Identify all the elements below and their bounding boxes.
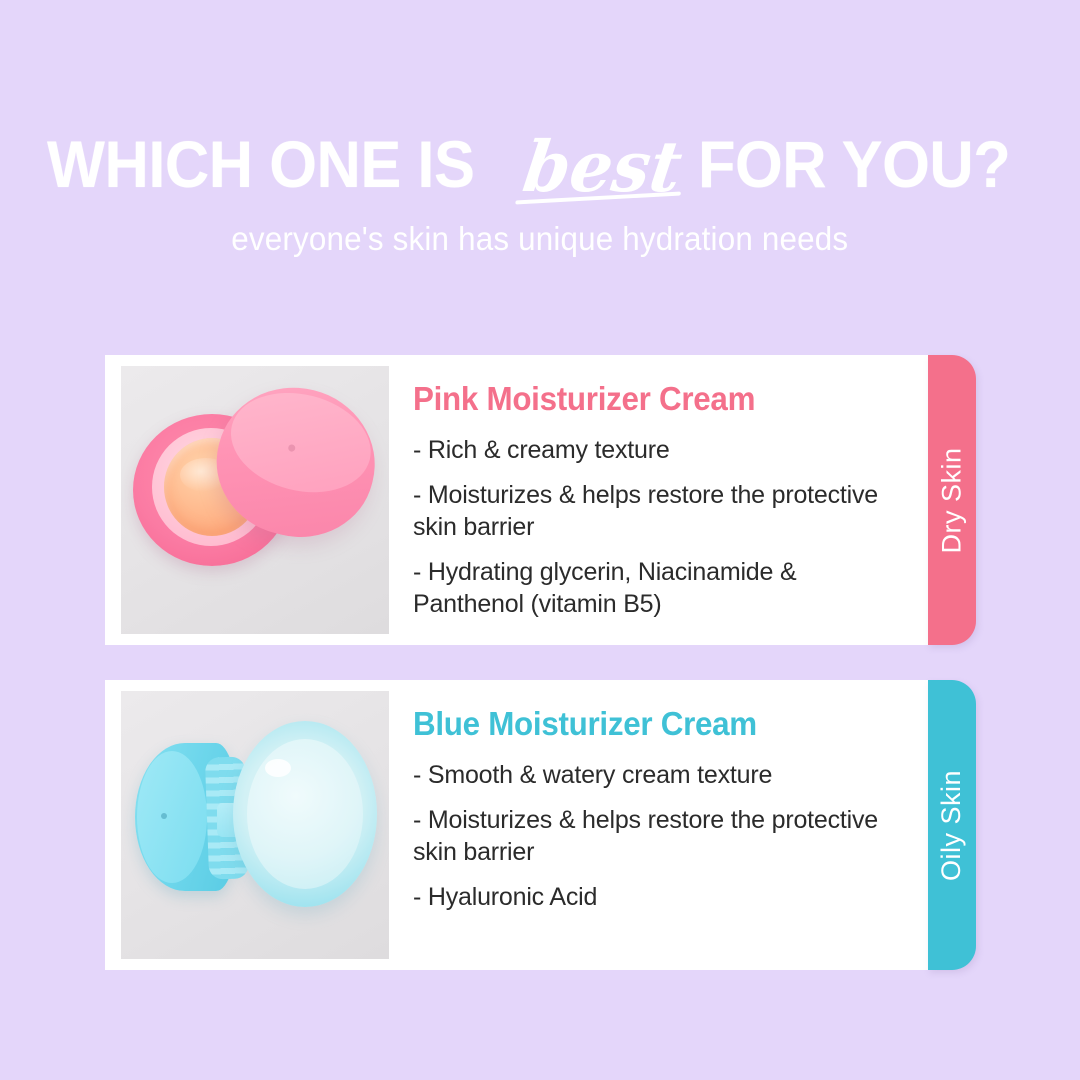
skin-type-tab-dry-label: Dry Skin: [937, 447, 968, 553]
product-details-blue: Blue Moisturizer Cream - Smooth & watery…: [389, 691, 931, 913]
headline-part-two: FOR YOU?: [698, 131, 1010, 197]
product-details-pink: Pink Moisturizer Cream - Rich & creamy t…: [389, 366, 931, 620]
header-section: WHICH ONE IS best FOR YOU? everyone's sk…: [0, 0, 1080, 330]
list-item: - Hydrating glycerin, Niacinamide & Pant…: [413, 556, 891, 620]
page-title: WHICH ONE IS best FOR YOU?: [47, 128, 1034, 198]
list-item: - Moisturizes & helps restore the protec…: [413, 479, 891, 543]
product-title-blue: Blue Moisturizer Cream: [413, 705, 867, 743]
list-item: - Hyaluronic Acid: [413, 881, 891, 913]
product-card-pink[interactable]: Pink Moisturizer Cream - Rich & creamy t…: [105, 355, 931, 645]
product-image-pink: [121, 366, 389, 634]
blue-jar-body-shape: [233, 721, 377, 907]
headline-script-word: best: [506, 132, 698, 202]
product-card-blue[interactable]: Blue Moisturizer Cream - Smooth & watery…: [105, 680, 931, 970]
product-image-blue: [121, 691, 389, 959]
product-title-pink: Pink Moisturizer Cream: [413, 380, 867, 418]
skin-type-tab-dry[interactable]: Dry Skin: [928, 355, 976, 645]
list-item: - Smooth & watery cream texture: [413, 759, 891, 791]
skin-type-tab-oily[interactable]: Oily Skin: [928, 680, 976, 970]
list-item: - Moisturizes & helps restore the protec…: [413, 804, 891, 868]
product-feature-list-pink: - Rich & creamy texture - Moisturizes & …: [413, 434, 891, 620]
product-feature-list-blue: - Smooth & watery cream texture - Moistu…: [413, 759, 891, 913]
page-subtitle: everyone's skin has unique hydration nee…: [232, 220, 849, 258]
headline-part-one: WHICH ONE IS: [47, 131, 475, 197]
skin-type-tab-oily-label: Oily Skin: [937, 769, 968, 880]
list-item: - Rich & creamy texture: [413, 434, 891, 466]
